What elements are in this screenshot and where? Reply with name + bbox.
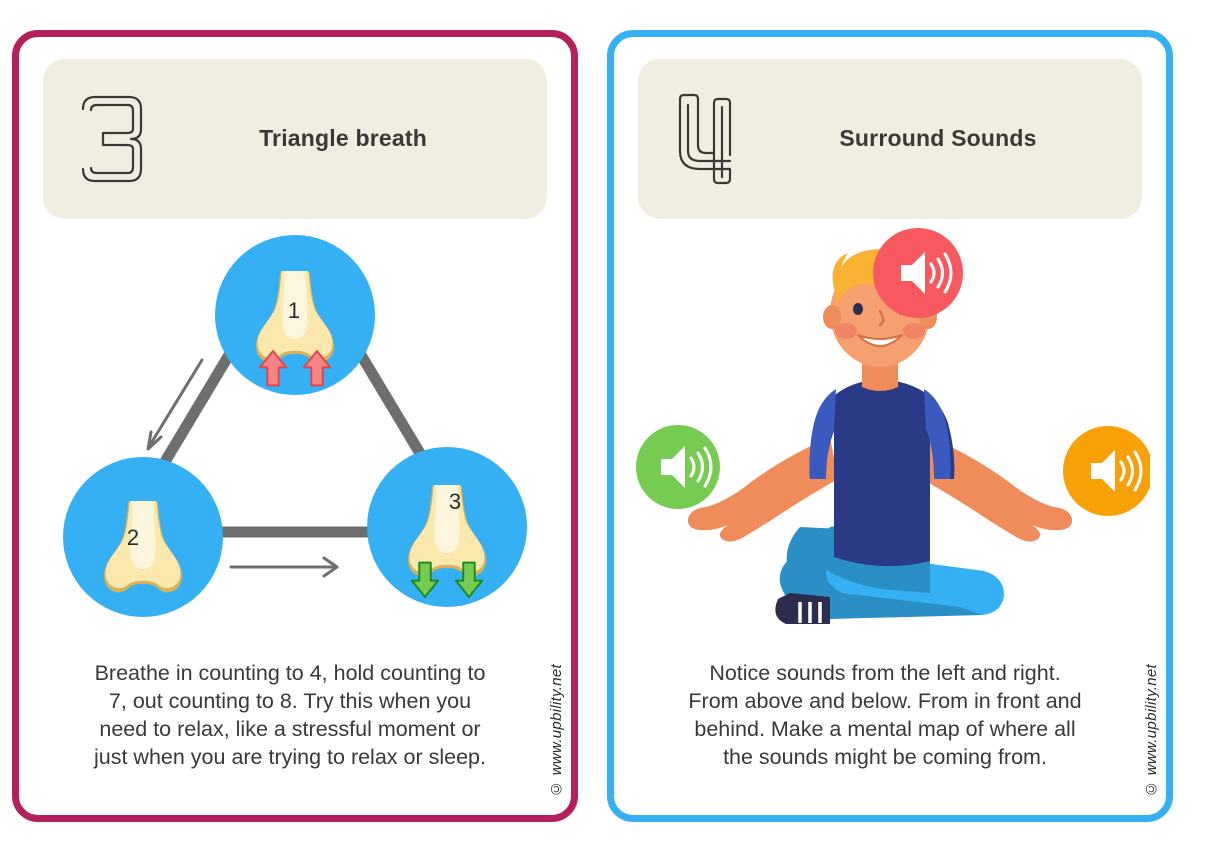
breath-node-2: 2: [63, 457, 223, 617]
copyright-credit: © www.upbility.net: [548, 664, 565, 797]
card-body-text: Notice sounds from the left and right. F…: [674, 659, 1096, 772]
outline-numeral-4-icon: [648, 89, 768, 189]
arrow-right-icon: [231, 558, 337, 576]
triangle-breath-illustration: 1 2: [19, 227, 571, 647]
card-content: Surround Sounds: [614, 37, 1166, 815]
card-title: Triangle breath: [173, 125, 547, 153]
breath-node-1: 1: [215, 235, 375, 395]
speaker-icon-right: [1063, 426, 1150, 516]
svg-text:1: 1: [288, 298, 300, 323]
card-content: Triangle breath: [19, 37, 571, 815]
surround-sounds-illustration: [614, 227, 1166, 647]
speaker-icon-top: [873, 228, 963, 318]
card-surround-sounds: Surround Sounds: [607, 30, 1173, 822]
worksheet-page: Triangle breath: [0, 0, 1214, 858]
copyright-credit: © www.upbility.net: [1143, 664, 1160, 797]
svg-text:2: 2: [127, 525, 139, 550]
svg-text:3: 3: [449, 489, 461, 514]
breath-node-3: 3: [367, 447, 527, 607]
card-title: Surround Sounds: [768, 125, 1142, 153]
speaker-icon-left: [636, 425, 720, 509]
meditating-child-figure: [688, 249, 1072, 624]
outline-numeral-3-icon: [53, 89, 173, 189]
card-header: Triangle breath: [43, 59, 547, 219]
card-body-text: Breathe in counting to 4, hold counting …: [79, 659, 501, 772]
card-triangle-breath: Triangle breath: [12, 30, 578, 822]
card-header: Surround Sounds: [638, 59, 1142, 219]
